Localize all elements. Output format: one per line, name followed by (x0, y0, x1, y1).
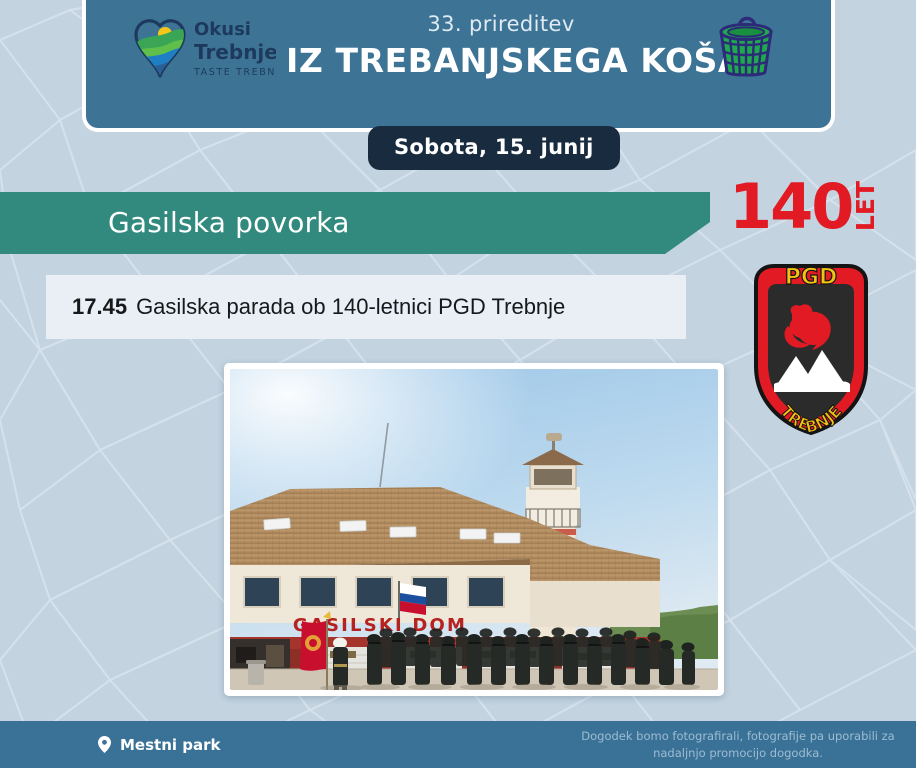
footer-bar: Mestni park Dogodek bomo fotografirali, … (0, 721, 916, 768)
okusi-trebnje-logo: Okusi Trebnje TASTE TREBNJE (126, 8, 276, 88)
section-banner: Gasilska povorka (0, 192, 710, 254)
section-title: Gasilska povorka (108, 206, 350, 239)
svg-text:Trebnje: Trebnje (194, 40, 276, 64)
svg-text:Okusi: Okusi (194, 19, 251, 40)
venue-label: Mestni park (120, 736, 220, 754)
page-title: IZ TREBANJSKEGA KOŠA (286, 41, 716, 80)
anniversary-unit: LET (853, 181, 878, 231)
edition-label: 33. prireditev (286, 12, 716, 36)
program-description: Gasilska parada ob 140-letnici PGD Trebn… (136, 294, 565, 320)
event-photo: GASILSKI DOM (224, 363, 724, 696)
header-card: Okusi Trebnje TASTE TREBNJE 33. priredit… (82, 0, 835, 132)
map-pin-icon (98, 736, 111, 753)
venue-block: Mestni park (98, 736, 220, 754)
svg-text:PGD: PGD (785, 265, 837, 290)
header-text-block: 33. prireditev IZ TREBANJSKEGA KOŠA (286, 12, 716, 80)
anniversary-badge: 140 LET (729, 180, 878, 235)
date-badge: Sobota, 15. junij (368, 126, 620, 170)
wicker-basket-icon (711, 8, 781, 80)
program-item: 17.45 Gasilska parada ob 140-letnici PGD… (46, 275, 686, 339)
pgd-trebnje-emblem: PGD TREBNJE (748, 262, 874, 437)
photo-disclaimer: Dogodek bomo fotografirali, fotografije … (578, 728, 898, 761)
program-time: 17.45 (72, 294, 127, 320)
svg-text:TASTE TREBNJE: TASTE TREBNJE (193, 67, 276, 78)
anniversary-number: 140 (729, 180, 852, 235)
